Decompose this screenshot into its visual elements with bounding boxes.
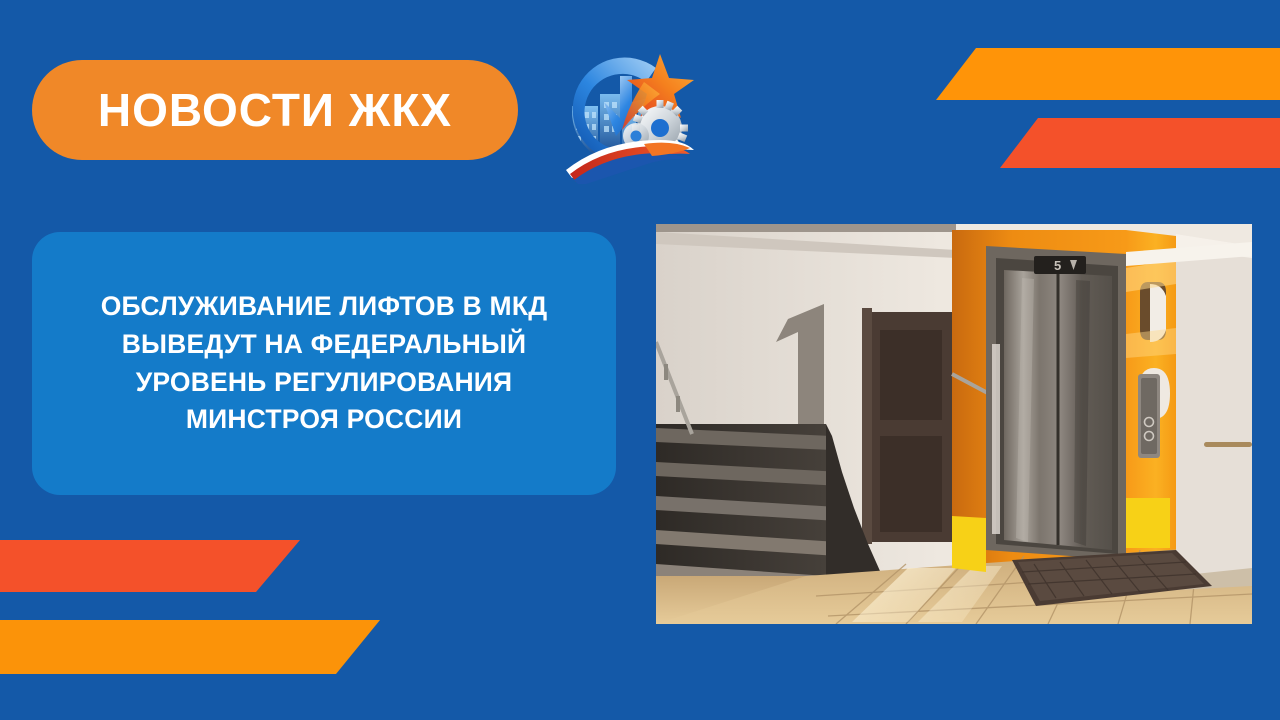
band-top-right-red <box>1000 118 1280 168</box>
zhkh-emblem-logo <box>548 32 700 184</box>
accent-yellow-left <box>952 516 986 572</box>
band-bottom-left-orange <box>0 620 380 674</box>
elevator: 5 <box>986 246 1126 560</box>
slide-canvas: НОВОСТИ ЖКХ <box>0 0 1280 720</box>
page-title: НОВОСТИ ЖКХ <box>98 83 452 137</box>
far-handrail <box>1204 442 1252 447</box>
band-top-right-orange <box>936 48 1280 100</box>
lobby-photo: 5 <box>656 224 1252 624</box>
news-title-pill: НОВОСТИ ЖКХ <box>32 60 518 160</box>
headline-card: ОБСЛУЖИВАНИЕ ЛИФТОВ В МКД ВЫВЕДУТ НА ФЕД… <box>32 232 616 495</box>
accent-yellow-right <box>1126 498 1170 548</box>
elevator-call-panel <box>1138 374 1160 458</box>
band-bottom-left-red <box>0 540 300 592</box>
headline-text: ОБСЛУЖИВАНИЕ ЛИФТОВ В МКД ВЫВЕДУТ НА ФЕД… <box>58 288 590 439</box>
svg-text:5: 5 <box>1054 258 1061 273</box>
